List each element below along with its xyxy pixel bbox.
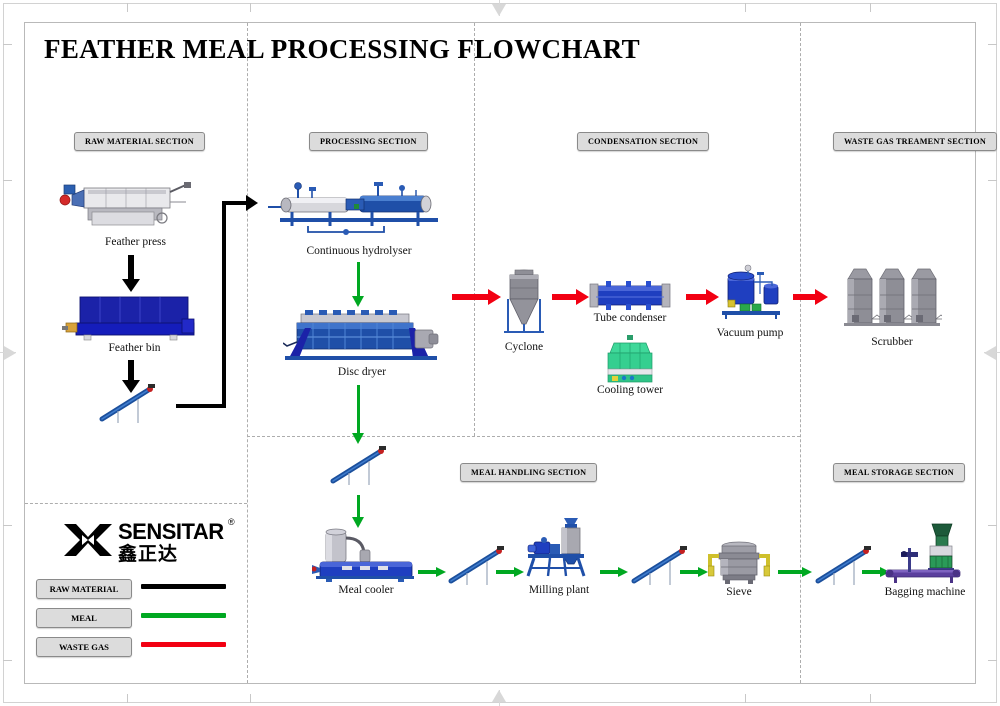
caption-disc-dryer: Disc dryer	[283, 366, 441, 378]
center-mark-right-line	[984, 352, 1000, 353]
caption-cooling-tower: Cooling tower	[580, 384, 680, 396]
divider-condensation-wastegas	[800, 23, 801, 683]
equipment-sieve	[708, 538, 770, 586]
center-mark-left-icon	[4, 346, 16, 360]
equipment-vacuum-pump	[714, 264, 786, 320]
equipment-cooling-tower	[600, 335, 660, 385]
frame-tick-left	[3, 660, 12, 661]
frame-tick-bottom	[870, 694, 871, 703]
legend-swatch-waste-gas	[141, 642, 226, 647]
equipment-feather-press	[58, 180, 213, 232]
legend-label-meal: MEAL	[36, 608, 132, 628]
sensitar-mark-icon	[62, 521, 114, 559]
equipment-scrubber	[842, 265, 942, 333]
section-chip-condensation: CONDENSATION SECTION	[577, 132, 709, 151]
frame-tick-top	[745, 3, 746, 12]
frame-tick-left	[3, 180, 12, 181]
equipment-meal-conveyor-4	[812, 545, 882, 587]
equipment-feather-bin	[62, 293, 207, 343]
caption-vacuum-pump: Vacuum pump	[705, 327, 795, 339]
caption-milling-plant: Milling plant	[519, 584, 599, 596]
frame-tick-left	[3, 44, 12, 45]
page-title: FEATHER MEAL PROCESSING FLOWCHART	[44, 34, 640, 65]
center-mark-bottom-line	[499, 690, 500, 706]
frame-tick-bottom	[745, 694, 746, 703]
brand-logo: SENSITAR ® 鑫正达	[62, 521, 237, 561]
section-chip-meal-storage: MEAL STORAGE SECTION	[833, 463, 965, 482]
section-chip-meal-handling: MEAL HANDLING SECTION	[460, 463, 597, 482]
frame-tick-right	[988, 660, 997, 661]
equipment-tube-condenser	[588, 281, 672, 313]
center-mark-left-line	[0, 352, 16, 353]
caption-feather-bin: Feather bin	[62, 342, 207, 354]
divider-raw-processing	[247, 23, 248, 683]
caption-tube-condenser: Tube condenser	[578, 312, 682, 324]
caption-continuous-hydrolyser: Continuous hydrolyser	[268, 245, 450, 257]
frame-tick-right	[988, 180, 997, 181]
caption-bagging-machine: Bagging machine	[874, 586, 976, 598]
brand-name-cn: 鑫正达	[118, 539, 178, 566]
legend-swatch-raw-material	[141, 584, 226, 589]
frame-tick-right	[988, 44, 997, 45]
equipment-continuous-hydrolyser	[268, 182, 450, 237]
frame-tick-bottom	[250, 694, 251, 703]
equipment-bagging-machine	[884, 522, 966, 586]
equipment-meal-conveyor-2	[445, 545, 515, 587]
equipment-meal-cooler	[312, 528, 420, 584]
caption-cyclone: Cyclone	[490, 341, 558, 353]
section-chip-waste-gas: WASTE GAS TREAMENT SECTION	[833, 132, 997, 151]
equipment-meal-conveyor-1	[327, 445, 397, 487]
section-chip-raw-material: RAW MATERIAL SECTION	[74, 132, 205, 151]
frame-tick-right	[988, 525, 997, 526]
brand-trademark: ®	[228, 517, 235, 527]
frame-tick-top	[870, 3, 871, 12]
divider-processing-condensation	[474, 23, 475, 436]
divider-raw-legend	[25, 503, 247, 504]
equipment-meal-conveyor-3	[628, 545, 698, 587]
frame-tick-top	[127, 3, 128, 12]
section-chip-processing: PROCESSING SECTION	[309, 132, 428, 151]
caption-feather-press: Feather press	[58, 236, 213, 248]
legend-swatch-meal	[141, 613, 226, 618]
legend-label-waste-gas: WASTE GAS	[36, 637, 132, 657]
caption-meal-cooler: Meal cooler	[312, 584, 420, 596]
equipment-milling-plant	[524, 518, 594, 584]
caption-scrubber: Scrubber	[842, 336, 942, 348]
frame-tick-left	[3, 525, 12, 526]
center-mark-top-line	[499, 0, 500, 16]
frame-tick-bottom	[127, 694, 128, 703]
flowchart-page: FEATHER MEAL PROCESSING FLOWCHART RAW MA…	[0, 0, 1000, 706]
equipment-disc-dryer	[283, 310, 441, 365]
divider-upper-lower	[247, 436, 800, 437]
caption-sieve: Sieve	[708, 586, 770, 598]
legend-label-raw-material: RAW MATERIAL	[36, 579, 132, 599]
center-mark-right-icon	[984, 346, 996, 360]
equipment-cyclone	[500, 266, 548, 336]
equipment-raw-conveyor	[96, 383, 166, 425]
frame-tick-top	[250, 3, 251, 12]
